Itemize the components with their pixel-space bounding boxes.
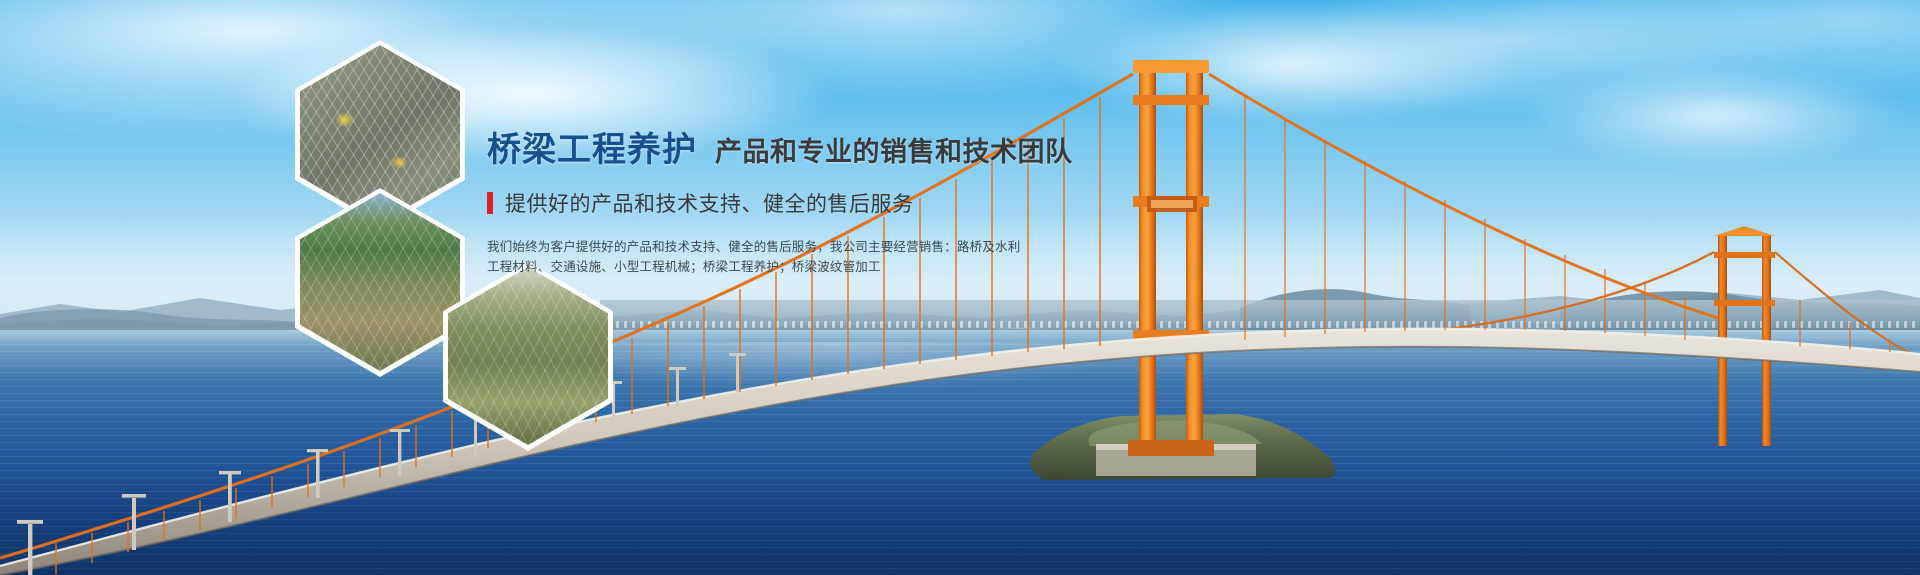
banner-copy: 桥梁工程养护 产品和专业的销售和技术团队 提供好的产品和技术支持、健全的售后服务…: [487, 122, 1127, 277]
description-line-2: 工程材料、交通设施、小型工程机械；桥梁工程养护；桥梁波纹管加工: [487, 257, 1127, 277]
headline-rest: 产品和专业的销售和技术团队: [715, 130, 1073, 169]
hero-banner: 桥梁工程养护 产品和专业的销售和技术团队 提供好的产品和技术支持、健全的售后服务…: [0, 0, 1920, 575]
description-line-1: 我们始终为客户提供好的产品和技术支持、健全的售后服务，我公司主要经营销售：路桥及…: [487, 237, 1127, 257]
bridge-tower-main: [1128, 60, 1214, 456]
bridge-deck: [0, 329, 1920, 575]
description-paragraph: 我们始终为客户提供好的产品和技术支持、健全的售后服务，我公司主要经营销售：路桥及…: [487, 237, 1127, 277]
bridge-tower-far: [1714, 226, 1775, 446]
accent-bar-icon: [487, 192, 493, 214]
suspension-bridge: [0, 0, 1920, 575]
subheadline-row: 提供好的产品和技术支持、健全的售后服务: [487, 188, 1127, 218]
subheadline-text: 提供好的产品和技术支持、健全的售后服务: [505, 188, 914, 218]
headline-highlight: 桥梁工程养护: [487, 122, 697, 171]
headline: 桥梁工程养护 产品和专业的销售和技术团队: [487, 122, 1127, 171]
hanger-cables-right: [1245, 96, 1890, 352]
